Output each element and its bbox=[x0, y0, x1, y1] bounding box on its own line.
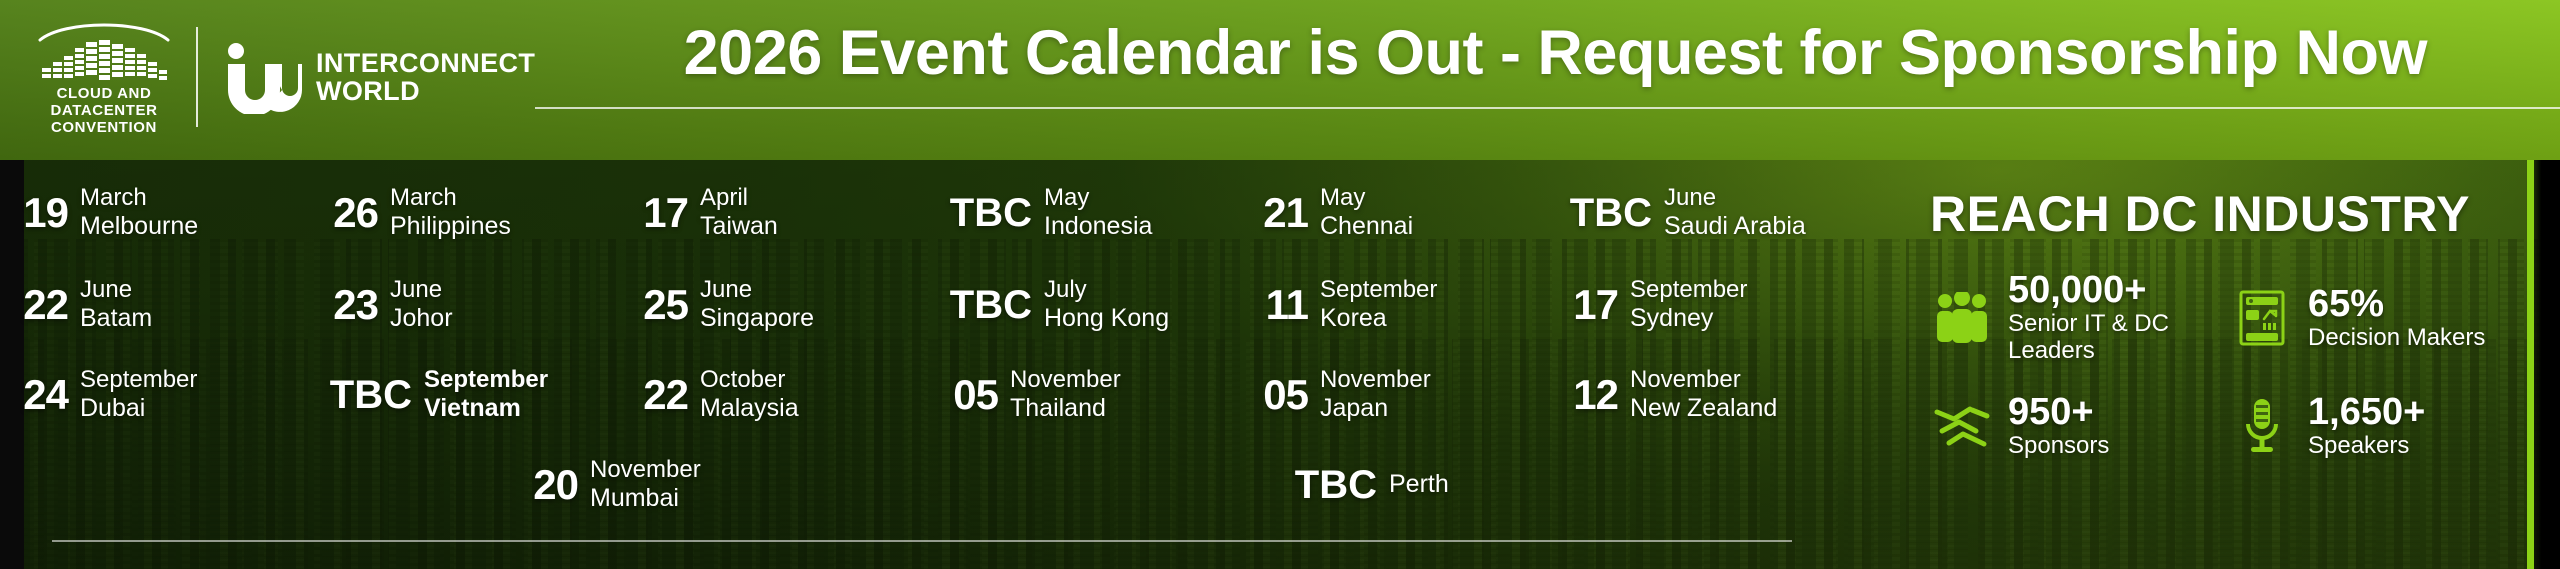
handshake-icon bbox=[1930, 402, 1994, 450]
event-city: Dubai bbox=[80, 394, 197, 424]
event-month: May bbox=[1044, 184, 1152, 212]
interconnect-world-logo[interactable]: INTERCONNECT WORLD bbox=[224, 40, 535, 114]
event-day: 25 bbox=[630, 284, 688, 326]
event-item[interactable]: 21 May Chennai bbox=[1240, 184, 1550, 242]
calendar-row: 19 March Melbourne 26 March Philippines … bbox=[0, 184, 1860, 242]
event-item[interactable]: 17 September Sydney bbox=[1550, 276, 1860, 334]
iw-monogram-icon bbox=[224, 40, 302, 114]
banner-headline: 2026 Event Calendar is Out - Request for… bbox=[535, 22, 2560, 85]
event-item[interactable]: 22 October Malaysia bbox=[620, 366, 930, 424]
event-day: TBC bbox=[1560, 193, 1652, 233]
event-item[interactable]: 26 March Philippines bbox=[310, 184, 620, 242]
event-item[interactable]: 17 April Taiwan bbox=[620, 184, 930, 242]
event-city: Malaysia bbox=[700, 394, 799, 424]
event-city: Saudi Arabia bbox=[1664, 212, 1806, 242]
stat-label: Sponsors bbox=[2008, 432, 2109, 460]
event-city: Indonesia bbox=[1044, 212, 1152, 242]
event-day: 05 bbox=[940, 374, 998, 416]
event-city: Batam bbox=[80, 304, 152, 334]
event-day: 23 bbox=[320, 284, 378, 326]
event-city: Vietnam bbox=[424, 394, 548, 424]
event-item[interactable]: 20 November Mumbai bbox=[510, 456, 820, 514]
logo-lockup[interactable]: CLOUD AND DATACENTER CONVENTION INTERCON… bbox=[0, 0, 535, 136]
event-calendar-grid: 19 March Melbourne 26 March Philippines … bbox=[0, 170, 1860, 500]
event-month: March bbox=[390, 184, 511, 212]
event-day: 12 bbox=[1560, 374, 1618, 416]
event-detail: March Melbourne bbox=[80, 184, 198, 242]
calendar-row: 22 June Batam 23 June Johor 25 June Sing… bbox=[0, 276, 1860, 334]
calendar-bottom-rule bbox=[52, 540, 1792, 542]
stat-item[interactable]: 1,650+ Speakers bbox=[2230, 393, 2530, 459]
event-month: September bbox=[424, 366, 548, 394]
calendar-row: 20 November Mumbai TBC Perth bbox=[0, 456, 1860, 514]
event-item[interactable]: TBC June Saudi Arabia bbox=[1550, 184, 1860, 242]
event-detail: May Indonesia bbox=[1044, 184, 1152, 242]
stat-text: 1,650+ Speakers bbox=[2308, 393, 2425, 459]
event-detail: June Singapore bbox=[700, 276, 814, 334]
event-month: June bbox=[1664, 184, 1806, 212]
event-city: Korea bbox=[1320, 304, 1437, 334]
event-detail: May Chennai bbox=[1320, 184, 1413, 242]
event-city: New Zealand bbox=[1630, 394, 1777, 424]
event-city: Johor bbox=[390, 304, 453, 334]
event-city: Thailand bbox=[1010, 394, 1121, 424]
event-item[interactable]: 19 March Melbourne bbox=[0, 184, 310, 242]
logo-divider bbox=[196, 27, 198, 127]
people-group-icon bbox=[1930, 292, 1994, 344]
event-day: TBC bbox=[940, 193, 1032, 233]
event-city: Hong Kong bbox=[1044, 304, 1169, 334]
stat-text: 950+ Sponsors bbox=[2008, 393, 2109, 459]
stats-panel-title: REACH DC INDUSTRY bbox=[1930, 185, 2530, 243]
event-day: 24 bbox=[10, 374, 68, 416]
event-item[interactable]: TBC Perth bbox=[1275, 456, 1585, 514]
event-detail: November New Zealand bbox=[1630, 366, 1777, 424]
event-month: September bbox=[1630, 276, 1747, 304]
event-detail: July Hong Kong bbox=[1044, 276, 1169, 334]
stat-item[interactable]: 50,000+ Senior IT & DC Leaders bbox=[1930, 271, 2230, 365]
event-detail: November Thailand bbox=[1010, 366, 1121, 424]
stats-grid: 50,000+ Senior IT & DC Leaders bbox=[1930, 271, 2530, 459]
stat-item[interactable]: 950+ Sponsors bbox=[1930, 393, 2230, 459]
event-day: 21 bbox=[1250, 192, 1308, 234]
stat-value: 1,650+ bbox=[2308, 393, 2425, 432]
headline-area: 2026 Event Calendar is Out - Request for… bbox=[535, 0, 2560, 109]
stat-label: Decision Makers bbox=[2308, 324, 2485, 352]
server-rack-icon bbox=[2230, 290, 2294, 346]
event-month: September bbox=[80, 366, 197, 394]
event-item[interactable]: 12 November New Zealand bbox=[1550, 366, 1860, 424]
event-city: Mumbai bbox=[590, 484, 701, 514]
event-month: April bbox=[700, 184, 778, 212]
event-detail: June Saudi Arabia bbox=[1664, 184, 1806, 242]
event-city: Taiwan bbox=[700, 212, 778, 242]
event-city: Perth bbox=[1389, 470, 1449, 500]
event-city: Melbourne bbox=[80, 212, 198, 242]
event-month: November bbox=[1630, 366, 1777, 394]
event-day: 17 bbox=[1560, 284, 1618, 326]
calendar-row: 24 September Dubai TBC September Vietnam… bbox=[0, 366, 1860, 424]
event-day: 26 bbox=[320, 192, 378, 234]
event-day: TBC bbox=[1285, 465, 1377, 505]
event-day: TBC bbox=[320, 375, 412, 415]
datacenter-skyline-icon bbox=[34, 18, 174, 82]
reach-stats-panel: REACH DC INDUSTRY 50,000+ Senior IT & DC… bbox=[1930, 185, 2530, 459]
stat-value: 50,000+ bbox=[2008, 271, 2230, 310]
event-detail: September Korea bbox=[1320, 276, 1437, 334]
event-city: Philippines bbox=[390, 212, 511, 242]
iw-word-line-1: INTERCONNECT bbox=[316, 49, 535, 77]
event-month: November bbox=[1320, 366, 1431, 394]
stat-label: Senior IT & DC Leaders bbox=[2008, 310, 2230, 365]
event-month: November bbox=[1010, 366, 1121, 394]
event-month: October bbox=[700, 366, 799, 394]
event-detail: October Malaysia bbox=[700, 366, 799, 424]
headline-underline bbox=[535, 107, 2560, 109]
event-day: 17 bbox=[630, 192, 688, 234]
event-item[interactable]: TBC July Hong Kong bbox=[930, 276, 1240, 334]
event-item[interactable]: 05 November Thailand bbox=[930, 366, 1240, 424]
event-month: September bbox=[1320, 276, 1437, 304]
event-detail: September Sydney bbox=[1630, 276, 1747, 334]
event-item[interactable]: 11 September Korea bbox=[1240, 276, 1550, 334]
event-item[interactable]: 05 November Japan bbox=[1240, 366, 1550, 424]
event-month: June bbox=[390, 276, 453, 304]
event-month: July bbox=[1044, 276, 1169, 304]
event-item[interactable]: 25 June Singapore bbox=[620, 276, 930, 334]
stat-label: Speakers bbox=[2308, 432, 2425, 460]
event-day: 20 bbox=[520, 464, 578, 506]
stat-value: 950+ bbox=[2008, 393, 2109, 432]
event-day: 11 bbox=[1250, 284, 1308, 326]
event-month: June bbox=[80, 276, 152, 304]
event-month: November bbox=[590, 456, 701, 484]
microphone-icon bbox=[2230, 397, 2294, 455]
event-month: March bbox=[80, 184, 198, 212]
event-detail: June Johor bbox=[390, 276, 453, 334]
event-item[interactable]: TBC May Indonesia bbox=[930, 184, 1240, 242]
stat-value: 65% bbox=[2308, 285, 2485, 324]
event-detail: November Mumbai bbox=[590, 456, 701, 514]
event-item[interactable]: 22 June Batam bbox=[0, 276, 310, 334]
event-item[interactable]: TBC September Vietnam bbox=[310, 366, 620, 424]
event-day: 19 bbox=[10, 192, 68, 234]
event-item[interactable]: 23 June Johor bbox=[310, 276, 620, 334]
stat-text: 65% Decision Makers bbox=[2308, 285, 2485, 351]
event-detail: September Vietnam bbox=[424, 366, 548, 424]
event-detail: April Taiwan bbox=[700, 184, 778, 242]
event-calendar-banner: CLOUD AND DATACENTER CONVENTION INTERCON… bbox=[0, 0, 2560, 569]
event-city: Sydney bbox=[1630, 304, 1747, 334]
event-city: Chennai bbox=[1320, 212, 1413, 242]
event-month: May bbox=[1320, 184, 1413, 212]
iw-word-line-2: WORLD bbox=[316, 77, 535, 105]
event-day: 22 bbox=[10, 284, 68, 326]
interconnect-world-wordmark: INTERCONNECT WORLD bbox=[316, 49, 535, 106]
stat-text: 50,000+ Senior IT & DC Leaders bbox=[2008, 271, 2230, 365]
event-city: Japan bbox=[1320, 394, 1431, 424]
event-detail: November Japan bbox=[1320, 366, 1431, 424]
event-day: 05 bbox=[1250, 374, 1308, 416]
event-day: TBC bbox=[940, 285, 1032, 325]
event-item[interactable]: 24 September Dubai bbox=[0, 366, 310, 424]
event-month: June bbox=[700, 276, 814, 304]
cloud-and-datacenter-convention-logo[interactable]: CLOUD AND DATACENTER CONVENTION bbox=[24, 18, 184, 136]
event-detail: March Philippines bbox=[390, 184, 511, 242]
event-day: 22 bbox=[630, 374, 688, 416]
stat-item[interactable]: 65% Decision Makers bbox=[2230, 271, 2530, 365]
event-detail: June Batam bbox=[80, 276, 152, 334]
event-city: Singapore bbox=[700, 304, 814, 334]
event-detail: September Dubai bbox=[80, 366, 197, 424]
cdc-logo-wordmark: CLOUD AND DATACENTER CONVENTION bbox=[50, 86, 157, 136]
